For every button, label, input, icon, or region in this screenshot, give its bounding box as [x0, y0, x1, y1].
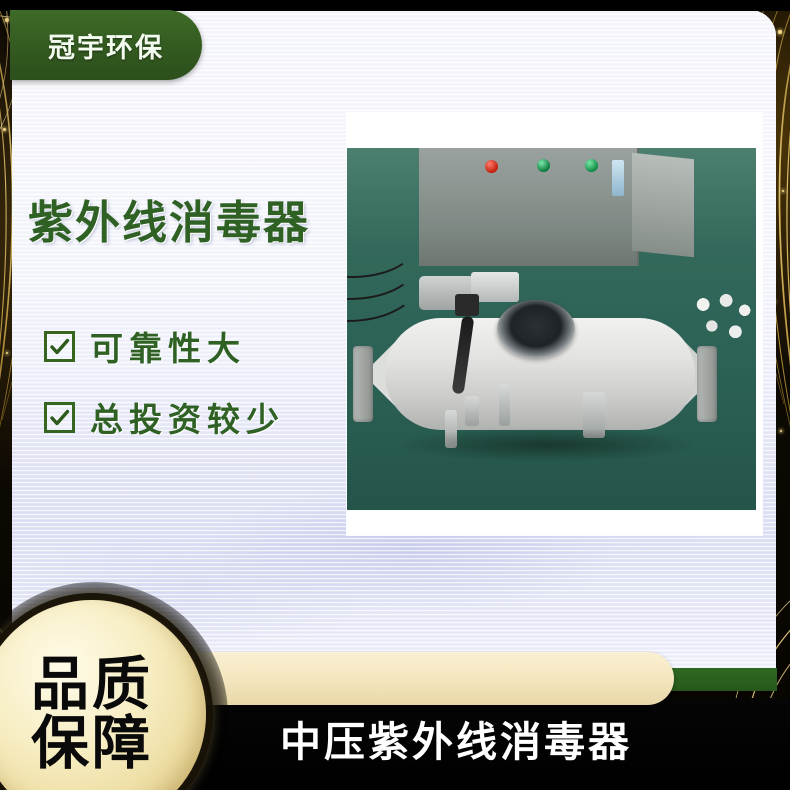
photo-ground-shadow: [397, 428, 697, 462]
photo-junction-box: [455, 294, 479, 316]
cream-accent-bar: [168, 652, 674, 705]
feature-item: 可靠性大: [44, 322, 285, 370]
feature-label: 可靠性大: [90, 322, 246, 370]
photo-control-cabinet: [419, 148, 639, 266]
badge-line-1: 品质: [31, 655, 153, 714]
photo-pressure-gauge: [612, 160, 624, 196]
brand-logo-tab[interactable]: 冠宇环保: [10, 10, 202, 80]
brand-logo-label: 冠宇环保: [48, 26, 164, 65]
photo-sight-glass-port: [497, 300, 575, 358]
photo-cabinet-side: [632, 153, 694, 258]
page-title: 紫外线消毒器: [28, 186, 310, 251]
photo-inlet-flange: [353, 346, 373, 422]
photo-drain-nozzle: [465, 396, 479, 426]
photo-red-indicator-light: [485, 160, 498, 173]
photo-spare-fittings: [692, 290, 754, 348]
checkbox-checked-icon: [44, 402, 75, 433]
feature-list: 可靠性大 总投资较少: [44, 322, 285, 464]
checkbox-checked-icon: [44, 331, 75, 362]
feature-label: 总投资较少: [90, 393, 285, 441]
photo-outlet-flange: [697, 346, 717, 422]
product-photo: [347, 148, 756, 510]
badge-line-2: 保障: [31, 714, 153, 773]
photo-sensor-nozzle: [499, 384, 510, 426]
feature-item: 总投资较少: [44, 393, 285, 441]
footer-caption: 中压紫外线消毒器: [280, 708, 632, 768]
photo-green-indicator-light: [585, 159, 598, 172]
product-photo-frame: [347, 113, 762, 535]
product-poster: 冠宇环保 紫外线消毒器 可靠性大 总投资较少: [0, 0, 790, 790]
photo-green-indicator-light: [537, 159, 550, 172]
